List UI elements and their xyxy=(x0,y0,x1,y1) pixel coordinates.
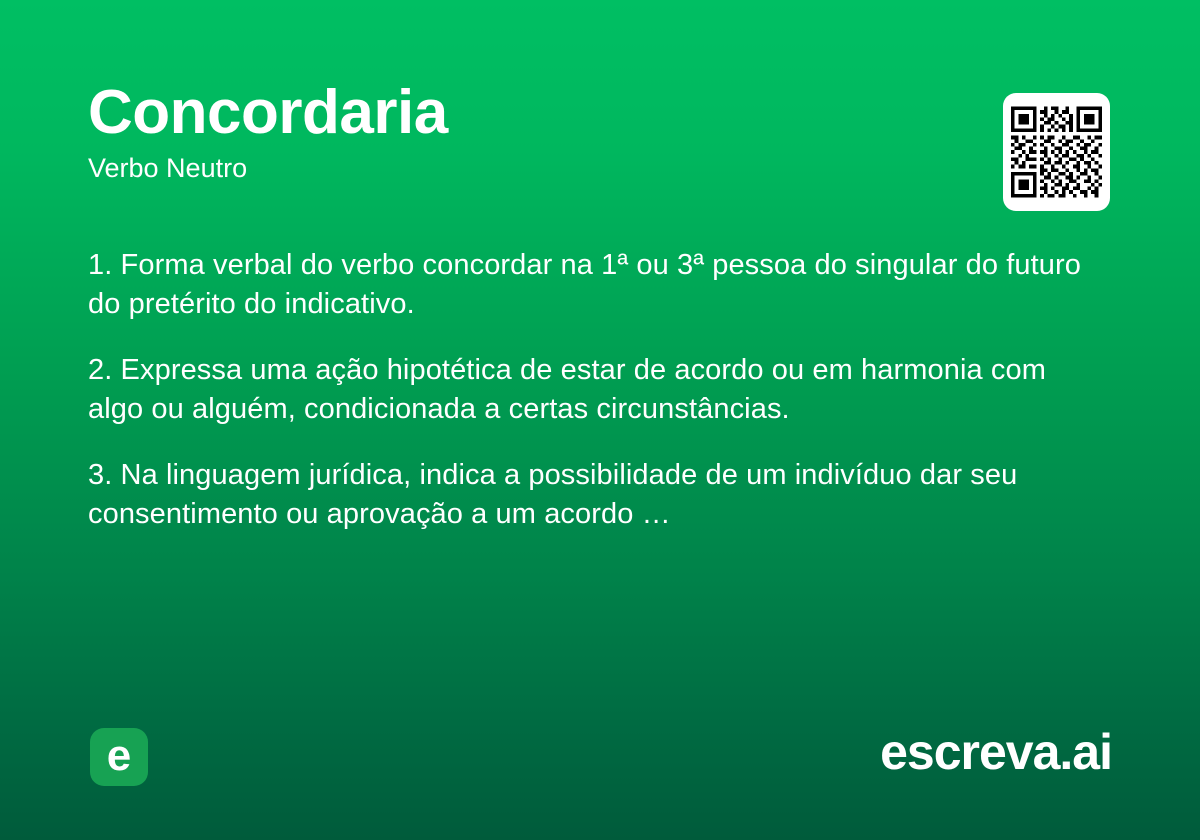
definition-list: 1. Forma verbal do verbo concordar na 1ª… xyxy=(88,246,1092,533)
word-class-subtitle: Verbo Neutro xyxy=(88,154,1112,184)
brand-wordmark: escreva.ai xyxy=(880,722,1112,782)
qr-code-icon xyxy=(1011,103,1102,201)
page-title: Concordaria xyxy=(88,82,1112,144)
logo-letter: e xyxy=(107,734,131,778)
definition-card: Concordaria Verbo Neutro xyxy=(0,0,1200,840)
definition-item: 1. Forma verbal do verbo concordar na 1ª… xyxy=(88,246,1092,323)
escreva-logo-icon: e xyxy=(90,728,148,786)
definition-item: 3. Na linguagem jurídica, indica a possi… xyxy=(88,456,1092,533)
qr-code[interactable] xyxy=(1003,93,1110,211)
card-header: Concordaria Verbo Neutro xyxy=(88,82,1112,212)
definition-item: 2. Expressa uma ação hipotética de estar… xyxy=(88,351,1092,428)
card-footer: e escreva.ai xyxy=(0,700,1200,840)
